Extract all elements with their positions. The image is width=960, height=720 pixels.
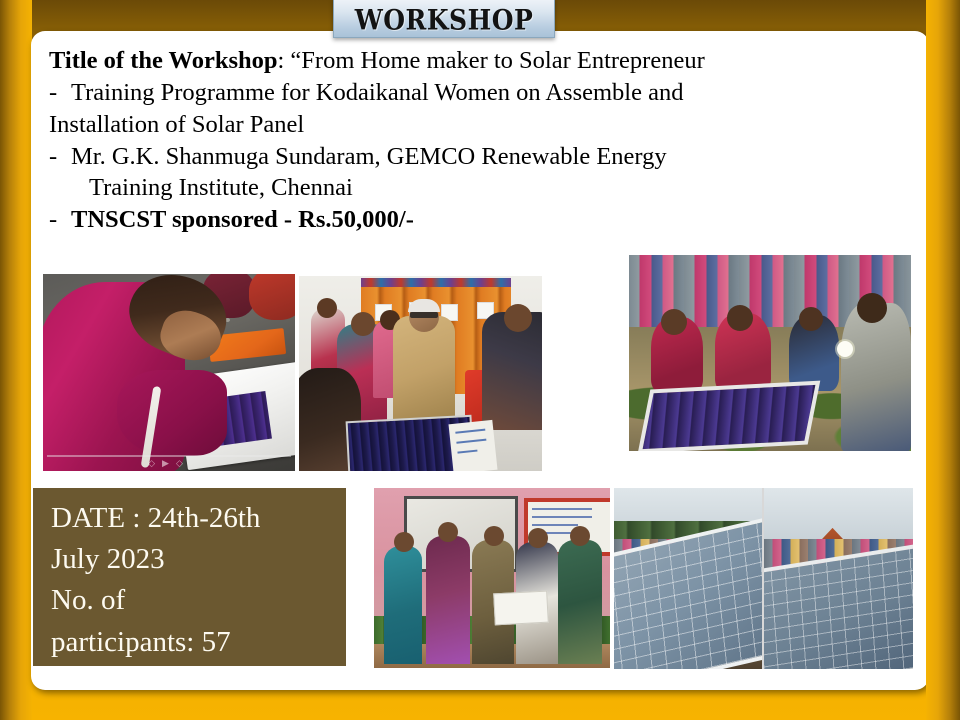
content-card: Title of the Workshop: “From Home maker …	[31, 31, 929, 690]
workshop-banner-label: WORKSHOP	[355, 1, 534, 33]
workshop-title-separator: :	[277, 47, 290, 74]
photo-outdoor-group	[629, 255, 911, 451]
workshop-line-3: Installation of Solar Panel	[49, 109, 917, 141]
workshop-line-2: -Training Programme for Kodaikanal Women…	[49, 77, 917, 109]
workshop-line-4-text: Mr. G.K. Shanmuga Sundaram, GEMCO Renewa…	[71, 143, 667, 170]
participants-line-2: participants: 57	[51, 622, 346, 663]
workshop-line-5: Training Institute, Chennai	[49, 172, 917, 204]
workshop-text-block: Title of the Workshop: “From Home maker …	[49, 45, 917, 236]
bullet-dash-icon: -	[49, 141, 71, 173]
photo-classroom-demo	[299, 276, 542, 471]
bullet-dash-icon: -	[49, 77, 71, 109]
workshop-line-5-text: Training Institute, Chennai	[89, 174, 353, 201]
workshop-title-text: “From Home maker to Solar Entrepreneur	[290, 47, 704, 74]
workshop-line-3-text: Installation of Solar Panel	[49, 111, 304, 138]
workshop-line-6-text: TNSCST sponsored - Rs.50,000/-	[71, 206, 414, 233]
date-participants-box: DATE : 24th-26th July 2023 No. of partic…	[33, 488, 346, 666]
workshop-banner: WORKSHOP	[333, 0, 555, 38]
workshop-title-label: Title of the Workshop	[49, 47, 277, 74]
photo-solar-panels-outdoor	[614, 488, 913, 669]
participants-line-1: No. of	[51, 580, 346, 621]
photo-solar-assembly-woman: ◇▶◇	[43, 274, 295, 471]
workshop-line-2-text: Training Programme for Kodaikanal Women …	[71, 79, 683, 106]
photo-certificate-ceremony	[374, 488, 610, 668]
date-line-2: July 2023	[51, 539, 346, 580]
bullet-dash-icon: -	[49, 204, 71, 236]
slide-canvas: WORKSHOP Title of the Workshop: “From Ho…	[0, 0, 960, 720]
workshop-line-6: -TNSCST sponsored - Rs.50,000/-	[49, 204, 917, 236]
workshop-line-4: -Mr. G.K. Shanmuga Sundaram, GEMCO Renew…	[49, 141, 917, 173]
date-line-1: DATE : 24th-26th	[51, 498, 346, 539]
workshop-title-line: Title of the Workshop: “From Home maker …	[49, 45, 917, 77]
